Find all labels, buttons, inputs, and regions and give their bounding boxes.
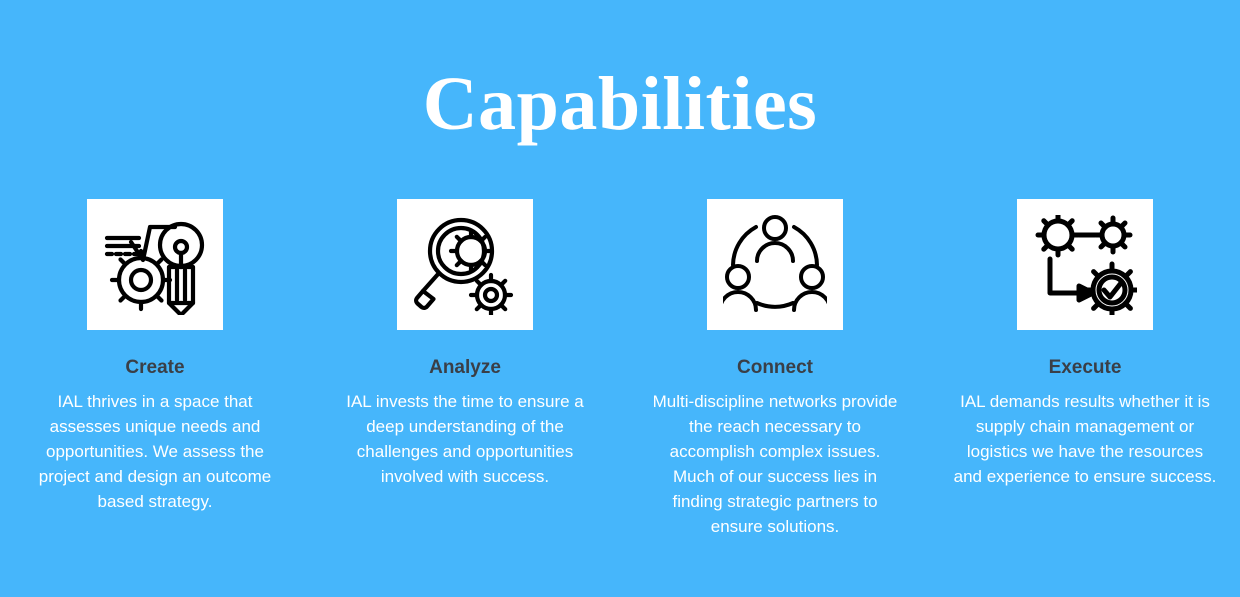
card-heading: Execute [1049,356,1122,380]
icon-tile-create [87,199,223,330]
card-body: IAL demands results whether it is supply… [953,389,1217,489]
card-body: IAL thrives in a space that assesses uni… [22,389,288,514]
people-network-icon [723,215,827,315]
icon-tile-connect [707,199,843,330]
card-body: Multi-discipline networks provide the re… [649,389,901,539]
page-title: Capabilities [0,58,1240,150]
lightbulb-pencil-gear-icon [103,215,207,315]
card-body: IAL invests the time to ensure a deep un… [331,389,599,489]
icon-tile-analyze [397,199,533,330]
card-heading: Create [125,356,184,380]
icon-tile-execute [1017,199,1153,330]
card-heading: Connect [737,356,813,380]
capability-card-execute: Execute IAL demands results whether it i… [930,199,1240,489]
gears-arrow-check-icon [1033,215,1137,315]
capability-card-connect: Connect Multi-discipline networks provid… [620,199,930,539]
capability-card-analyze: Analyze IAL invests the time to ensure a… [310,199,620,489]
capability-card-list: Create IAL thrives in a space that asses… [0,199,1240,539]
capabilities-section: Capabilities [0,0,1240,597]
card-heading: Analyze [429,356,501,380]
capability-card-create: Create IAL thrives in a space that asses… [0,199,310,514]
magnifier-gears-icon [413,215,517,315]
